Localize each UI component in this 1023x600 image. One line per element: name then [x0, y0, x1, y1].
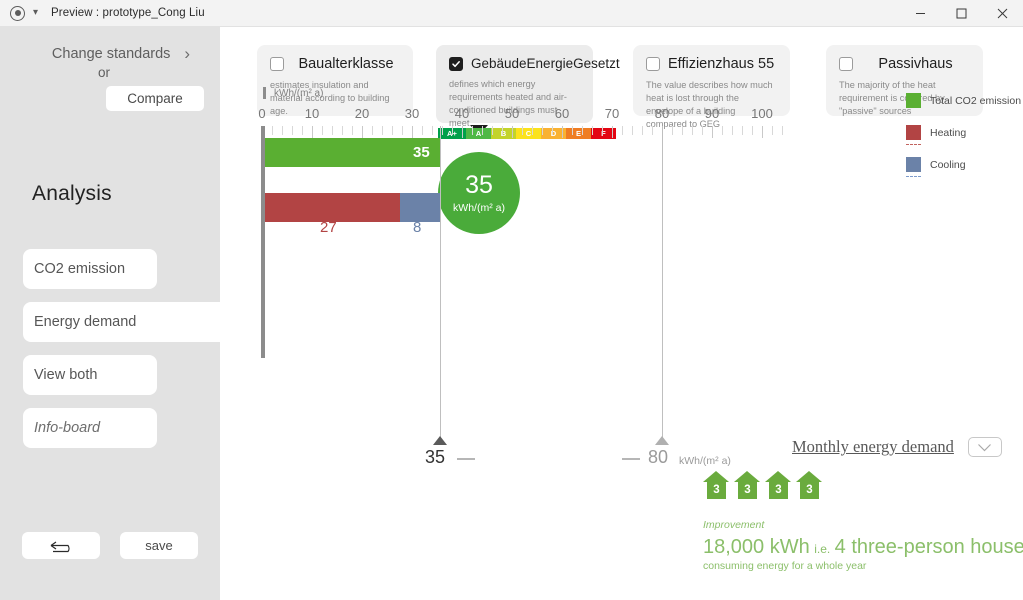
axis-tick-mark	[532, 126, 533, 135]
axis-tick-mark	[342, 126, 343, 135]
axis-tick-80: 80	[655, 106, 669, 121]
legend-item-cooling: Cooling	[906, 157, 1021, 172]
axis-tick-mark	[492, 126, 493, 135]
axis-tick-mark	[352, 126, 353, 135]
axis-tick-mark	[302, 126, 303, 135]
record-circle-icon	[10, 6, 25, 21]
undo-arrow-icon	[44, 539, 78, 553]
legend-label-cooling: Cooling	[930, 159, 966, 171]
axis-tick-mark	[442, 126, 443, 135]
axis-tick-mark	[602, 126, 603, 135]
marker-triangle-35	[433, 436, 447, 445]
axis-tick-100: 100	[751, 106, 773, 121]
legend-item-heating: Heating	[906, 125, 1021, 140]
improvement-households: 4 three-person household	[835, 536, 1023, 558]
sidebar-actions: save	[22, 532, 198, 559]
axis-tick-20: 20	[355, 106, 369, 121]
house-icon: 3	[796, 471, 823, 499]
axis-tick-mark	[572, 126, 573, 135]
axis-tick-mark	[472, 126, 473, 135]
axis-tick-30: 30	[405, 106, 419, 121]
change-standards-section: Change standards › or Compare	[0, 27, 220, 111]
axis-tick-mark	[272, 126, 273, 135]
axis-tick-0: 0	[258, 106, 265, 121]
legend-dash-heating	[906, 144, 921, 145]
axis-tick-60: 60	[555, 106, 569, 121]
house-icon: 3	[734, 471, 761, 499]
axis-tick-mark	[502, 126, 503, 135]
axis-tick-mark	[462, 126, 463, 138]
axis-tick-10: 10	[305, 106, 319, 121]
axis-tick-mark	[682, 126, 683, 135]
axis-tick-mark	[672, 126, 673, 135]
bar-value-total: 35	[413, 138, 430, 167]
axis-tick-mark	[292, 126, 293, 135]
axis-tick-mark	[412, 126, 413, 138]
sidebar: Change standards › or Compare Analysis C…	[0, 27, 220, 600]
house-badge: 3	[707, 481, 726, 499]
improvement-connector: i.e.	[814, 542, 830, 556]
chevron-down-icon	[977, 443, 992, 452]
page-title: Analysis	[32, 182, 112, 206]
axis-tick-mark	[422, 126, 423, 135]
save-button[interactable]: save	[120, 532, 198, 559]
reference-line-80	[662, 126, 663, 438]
axis-tick-mark	[452, 126, 453, 135]
monthly-energy-demand-control: Monthly energy demand	[792, 437, 1002, 457]
axis-tick-mark	[562, 126, 563, 138]
close-icon[interactable]	[982, 0, 1023, 27]
axis-tick-90: 90	[705, 106, 719, 121]
axis-tick-40: 40	[455, 106, 469, 121]
axis-tick-mark	[282, 126, 283, 135]
axis-tick-mark	[782, 126, 783, 135]
axis-tick-mark	[542, 126, 543, 135]
axis-tick-mark	[582, 126, 583, 135]
legend-swatch-green	[906, 93, 921, 108]
axis-tick-mark	[742, 126, 743, 135]
bar-value-heating: 27	[320, 213, 337, 242]
back-button[interactable]	[22, 532, 100, 559]
window-controls	[900, 0, 1023, 27]
chevron-right-icon[interactable]: ›	[184, 45, 190, 62]
axis-tick-70: 70	[605, 106, 619, 121]
axis-unit-marker	[263, 87, 266, 99]
axis-tick-mark	[752, 126, 753, 135]
window-title: Preview : prototype_Cong Liu	[51, 7, 205, 19]
monthly-dropdown-button[interactable]	[968, 437, 1002, 457]
axis-tick-mark	[732, 126, 733, 135]
legend-label-heating: Heating	[930, 127, 966, 139]
house-badge: 3	[738, 481, 757, 499]
axis-tick-mark	[402, 126, 403, 135]
axis-tick-mark	[712, 126, 713, 138]
marker-unit-80: kWh/(m² a)	[679, 455, 731, 467]
connector-dash-right	[622, 458, 640, 460]
sidebar-nav: CO2 emission Energy demand View both Inf…	[0, 249, 220, 461]
axis-tick-mark	[552, 126, 553, 135]
axis-tick-mark	[612, 126, 613, 138]
reference-line-35	[440, 126, 441, 438]
chevron-down-icon[interactable]: ▾	[33, 8, 38, 18]
axis-tick-mark	[432, 126, 433, 135]
axis-tick-mark	[702, 126, 703, 135]
axis-tick-mark	[392, 126, 393, 135]
axis-tick-mark	[772, 126, 773, 135]
axis-tick-mark	[312, 126, 313, 138]
axis-tick-mark	[632, 126, 633, 135]
improvement-sub: consuming energy for a whole year	[703, 560, 1023, 572]
axis-tick-mark	[322, 126, 323, 135]
compare-button[interactable]: Compare	[106, 86, 204, 111]
marker-value-35: 35	[425, 447, 445, 468]
legend-dash-cooling	[906, 176, 921, 177]
energy-demand-chart: kWh/(m² a) 0 10 20 30 40 50 60 70 80 90 …	[220, 27, 1023, 600]
improvement-amount: 18,000 kWh	[703, 536, 810, 558]
bar-value-cooling: 8	[413, 213, 421, 242]
house-badge: 3	[769, 481, 788, 499]
axis-tick-mark	[512, 126, 513, 138]
marker-triangle-80	[655, 436, 669, 445]
axis-tick-mark	[592, 126, 593, 135]
legend-swatch-blue	[906, 157, 921, 172]
marker-value-80: 80	[648, 447, 668, 468]
sidebar-item-energy-demand[interactable]: Energy demand	[23, 302, 220, 342]
sidebar-item-info-board[interactable]: Info-board	[23, 408, 157, 448]
improvement-label: Improvement	[703, 519, 1023, 531]
maximize-icon[interactable]	[941, 0, 982, 27]
legend-label-total-co2: Total CO2 emission	[930, 95, 1021, 107]
household-equivalent-icons: 3 3 3 3	[703, 471, 823, 499]
connector-dash-left	[457, 458, 475, 460]
legend-item-total-co2: Total CO2 emission	[906, 93, 1021, 108]
axis-tick-mark	[372, 126, 373, 135]
title-bar: ▾ Preview : prototype_Cong Liu	[0, 0, 1023, 27]
house-icon: 3	[703, 471, 730, 499]
axis-tick-mark	[482, 126, 483, 135]
axis-tick-mark	[332, 126, 333, 135]
axis-tick-mark	[382, 126, 383, 135]
legend-swatch-red	[906, 125, 921, 140]
house-icon: 3	[765, 471, 792, 499]
axis-tick-mark	[622, 126, 623, 135]
sidebar-item-view-both[interactable]: View both	[23, 355, 157, 395]
axis-tick-50: 50	[505, 106, 519, 121]
or-label: or	[0, 65, 220, 80]
axis-tick-mark	[362, 126, 363, 138]
minimize-icon[interactable]	[900, 0, 941, 27]
chart-legend: Total CO2 emission Heating Cooling	[906, 93, 1021, 189]
axis-tick-mark	[692, 126, 693, 135]
axis-tick-mark	[652, 126, 653, 135]
axis-tick-mark	[762, 126, 763, 138]
change-standards-label: Change standards	[52, 46, 171, 62]
house-badge: 3	[800, 481, 819, 499]
monthly-energy-demand-link[interactable]: Monthly energy demand	[792, 437, 954, 457]
axis-tick-mark	[722, 126, 723, 135]
app-window: ▾ Preview : prototype_Cong Liu Change st…	[0, 0, 1023, 600]
improvement-summary: Improvement 18,000 kWh i.e. 4 three-pers…	[703, 519, 1023, 572]
axis-tick-mark	[522, 126, 523, 135]
axis-tick-mark	[642, 126, 643, 135]
sidebar-item-co2-emission[interactable]: CO2 emission	[23, 249, 157, 289]
axis-unit-label: kWh/(m² a)	[274, 88, 323, 99]
main-panel: Baualterklasse estimates insulation and …	[220, 27, 1023, 600]
